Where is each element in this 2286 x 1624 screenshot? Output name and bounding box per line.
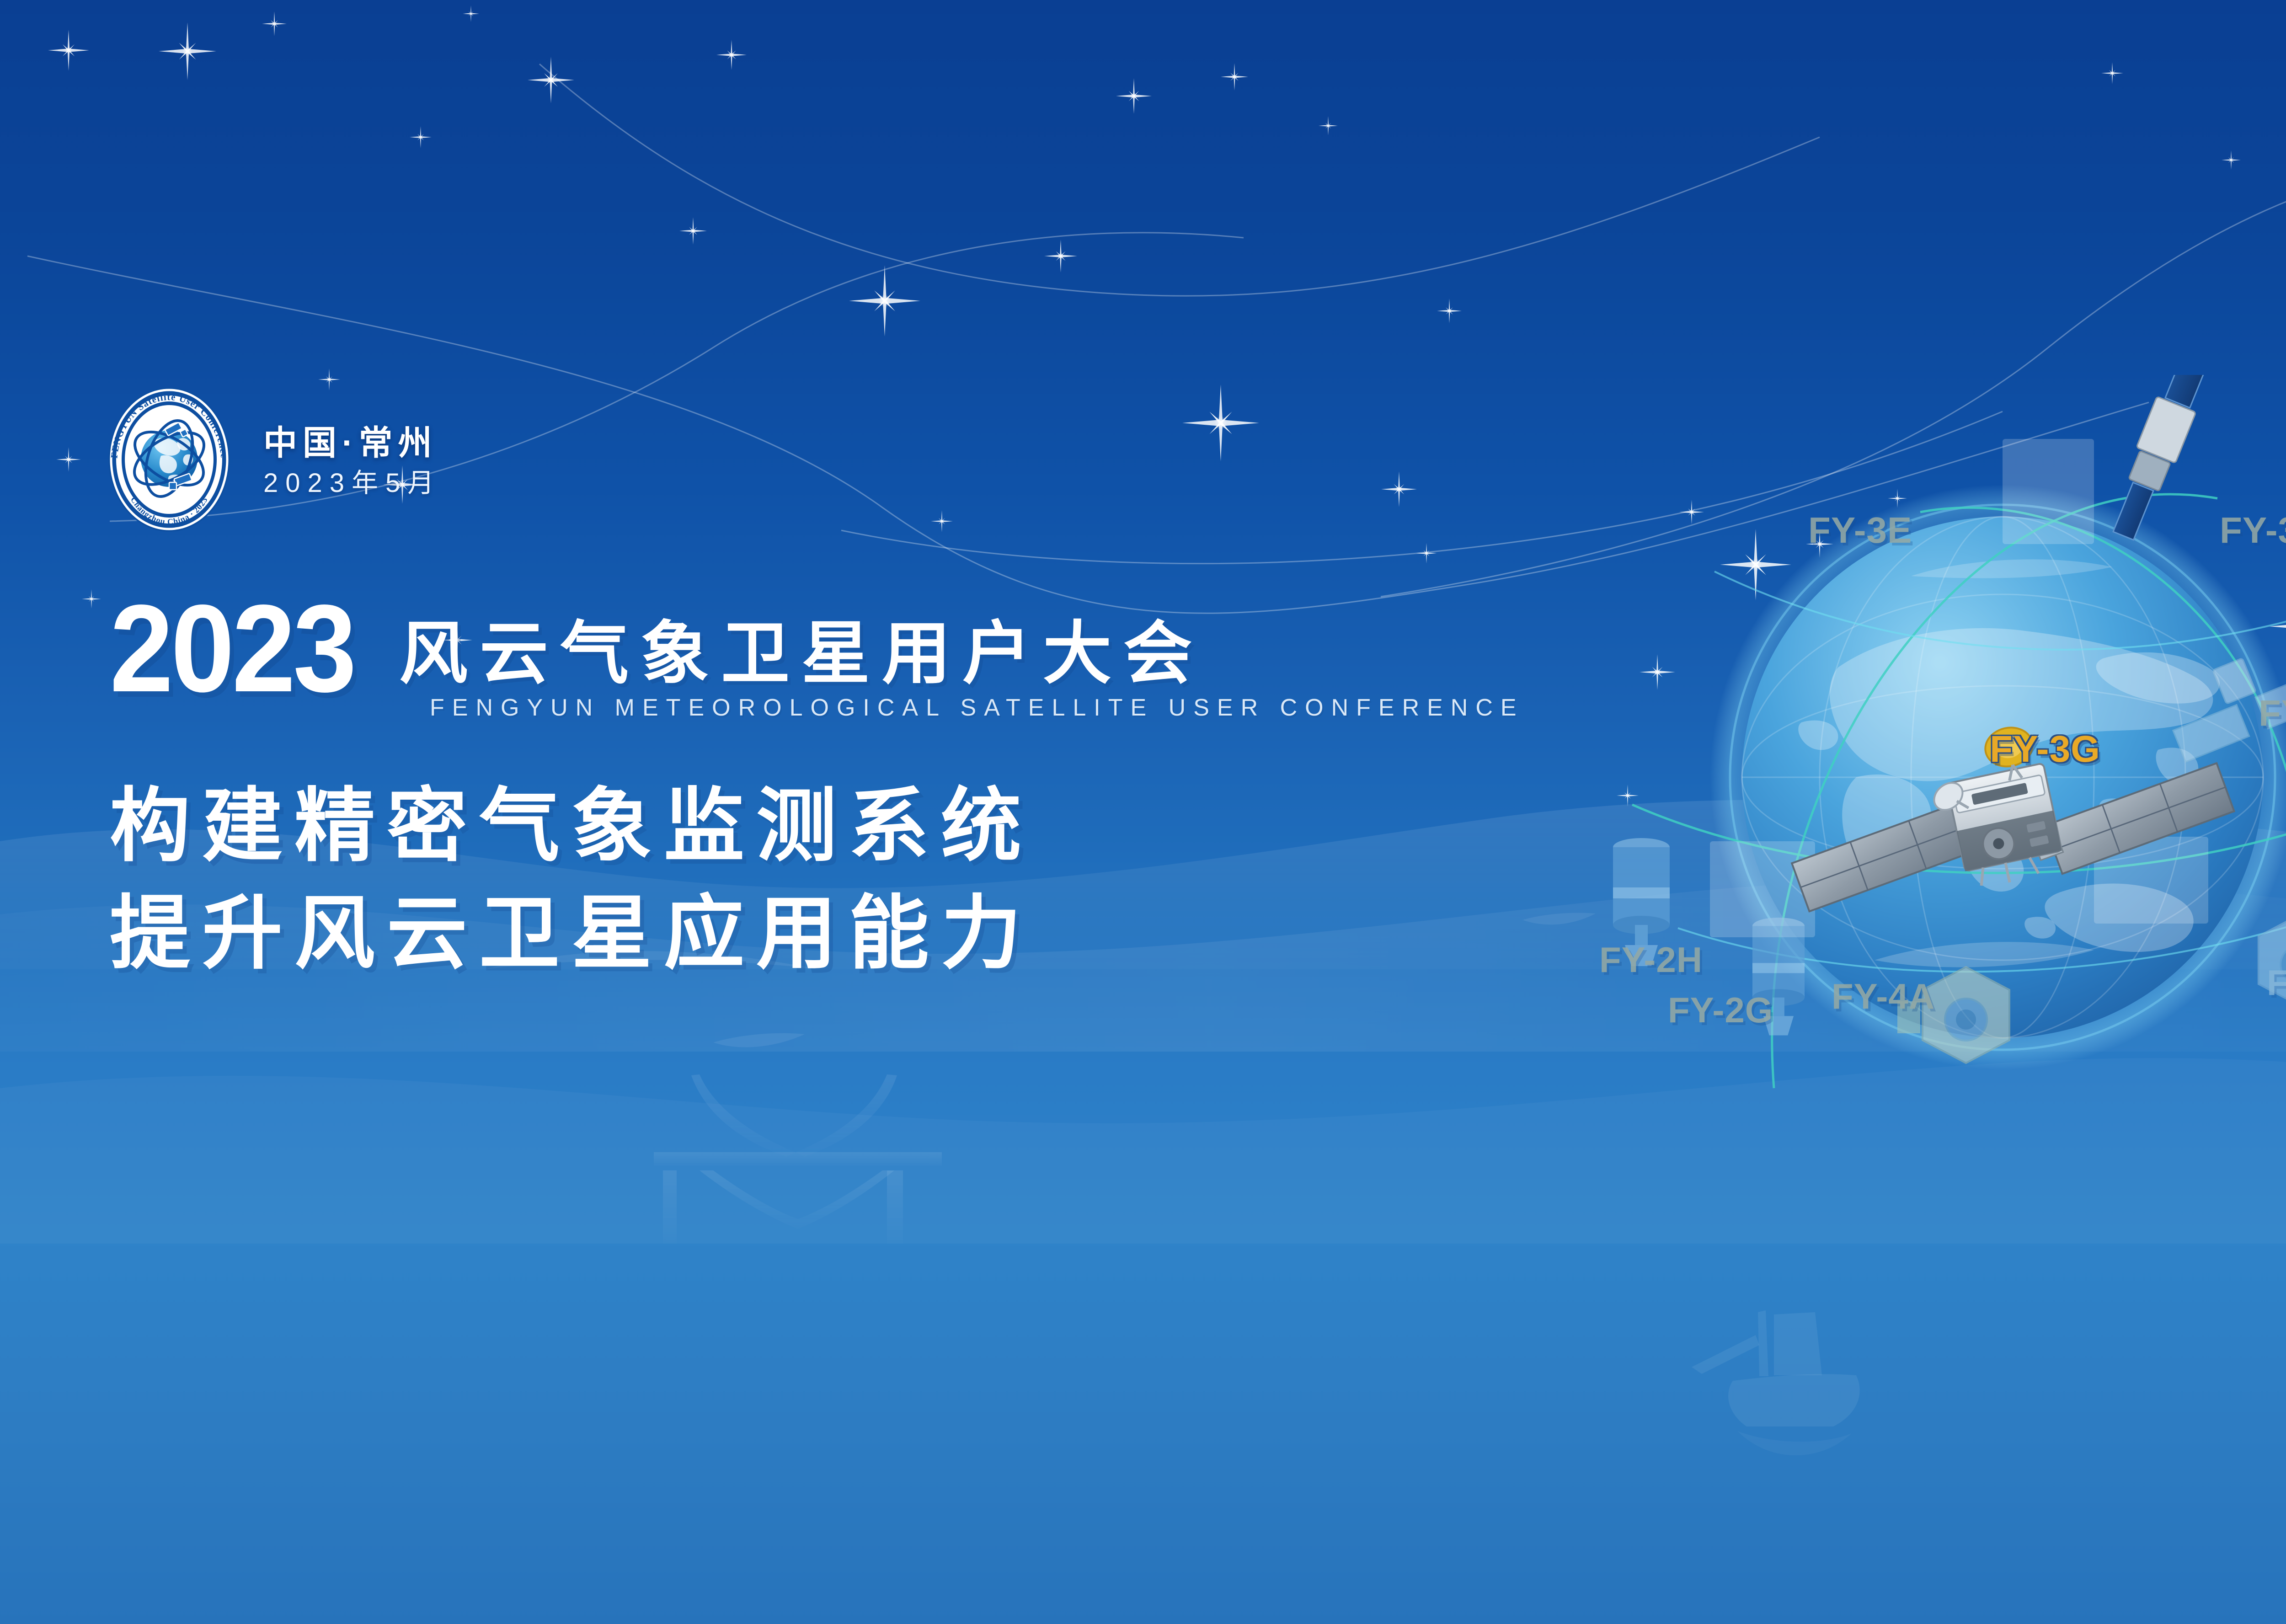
event-place: 中国·常州: [263, 426, 441, 460]
conference-headline-row: 2023 风云气象卫星用户大会: [110, 599, 1524, 699]
satellite-label-fy-2g: FY-2G: [1668, 992, 1773, 1028]
satellite-label-fy-3c: FY-3C: [2220, 512, 2286, 549]
satellite-label-fy-2h: FY-2H: [1599, 942, 1703, 978]
satellite-label-fy-3e: FY-3E: [1808, 512, 1912, 549]
satellite-label-fy-3g: FY-3G: [1990, 731, 2100, 768]
title-block: 2023 风云气象卫星用户大会 FENGYUN METEOROLOGICAL S…: [110, 599, 1524, 988]
conference-name-en: FENGYUN METEOROLOGICAL SATELLITE USER CO…: [430, 694, 1524, 721]
conference-emblem-icon: FENGYUN Satellite User Conference Changz…: [101, 386, 238, 533]
poster-canvas: FENGYUN Satellite User Conference Changz…: [0, 0, 2286, 1624]
event-identity-block: FENGYUN Satellite User Conference Changz…: [101, 386, 441, 533]
satellite-label-fy-4b: FY-4B: [2267, 965, 2286, 1000]
event-place-date: 中国·常州 2023年5月: [263, 422, 441, 497]
slogan-block: 构建精密气象监测系统 提升风云卫星应用能力: [110, 773, 1524, 988]
slogan-line-1: 构建精密气象监测系统: [110, 773, 1524, 881]
satellite-label-fy-3d: FY-3D: [2259, 695, 2286, 732]
slogan-line-2: 提升风云卫星应用能力: [110, 880, 1524, 988]
sailboat-silhouette: [1692, 1310, 1860, 1455]
event-date: 2023年5月: [263, 470, 441, 497]
conference-name-cn: 风云气象卫星用户大会: [399, 619, 1204, 699]
conference-year: 2023: [110, 599, 354, 699]
satellite-constellation-scene: [1564, 375, 2286, 1152]
satellite-label-fy-4a: FY-4A: [1832, 978, 1935, 1014]
